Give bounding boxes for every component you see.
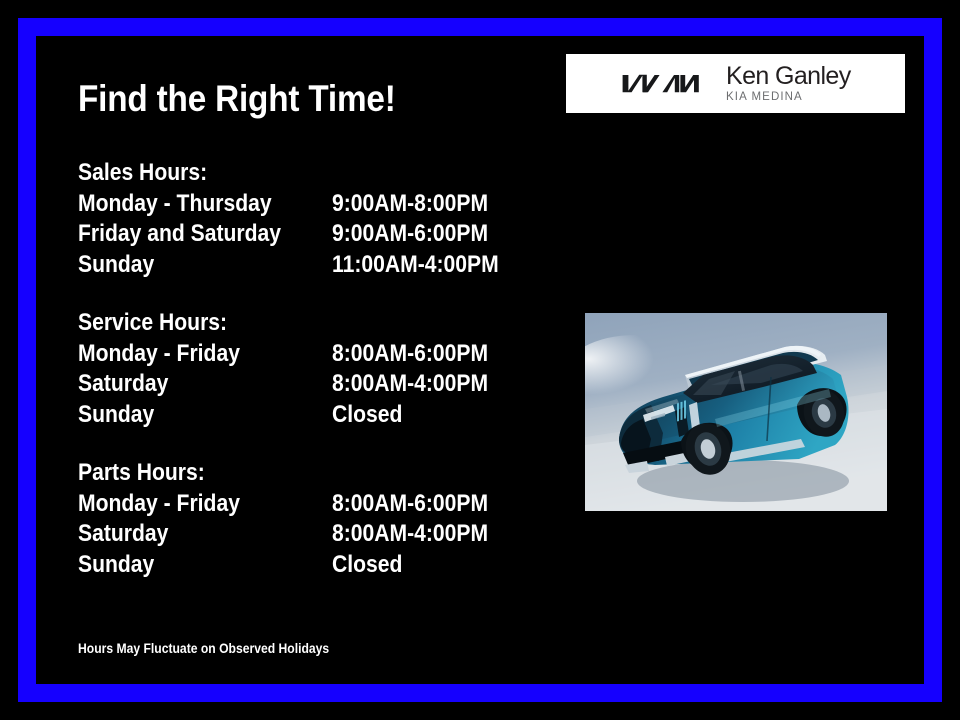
section-heading: Sales Hours: [78, 158, 492, 189]
hours-row: Sunday Closed [78, 550, 548, 581]
dealership-logo-banner: Ken Ganley KIA MEDINA [566, 54, 905, 113]
day-label: Sunday [78, 250, 154, 281]
dealer-subtitle: KIA MEDINA [726, 90, 851, 104]
hours-row: Monday - Thursday 9:00AM-8:00PM [78, 189, 548, 220]
time-value: 9:00AM-6:00PM [332, 219, 488, 250]
time-value: Closed [332, 550, 402, 581]
day-label: Saturday [78, 519, 168, 550]
hours-row: Saturday 8:00AM-4:00PM [78, 519, 548, 550]
page-title: Find the Right Time! [78, 78, 396, 120]
hours-row: Monday - Friday 8:00AM-6:00PM [78, 339, 548, 370]
day-label: Saturday [78, 369, 168, 400]
holiday-note: Hours May Fluctuate on Observed Holidays [78, 641, 329, 656]
hours-row: Friday and Saturday 9:00AM-6:00PM [78, 219, 548, 250]
slide-canvas: Find the Right Time! Sales Hours: Monday… [0, 0, 960, 720]
hours-row: Monday - Friday 8:00AM-6:00PM [78, 489, 548, 520]
kia-logo-icon [584, 69, 708, 99]
dealer-name: Ken Ganley [726, 63, 851, 89]
dealer-name-group: Ken Ganley KIA MEDINA [726, 63, 851, 104]
hours-block-service: Service Hours: Monday - Friday 8:00AM-6:… [78, 308, 548, 430]
time-value: 8:00AM-6:00PM [332, 339, 488, 370]
vehicle-photo [585, 313, 887, 511]
hours-block-parts: Parts Hours: Monday - Friday 8:00AM-6:00… [78, 458, 548, 580]
section-heading: Parts Hours: [78, 458, 492, 489]
time-value: 9:00AM-8:00PM [332, 189, 488, 220]
day-label: Friday and Saturday [78, 219, 281, 250]
hours-row: Sunday Closed [78, 400, 548, 431]
time-value: 8:00AM-4:00PM [332, 369, 488, 400]
hours-list: Sales Hours: Monday - Thursday 9:00AM-8:… [78, 158, 548, 580]
day-label: Sunday [78, 550, 154, 581]
hours-block-sales: Sales Hours: Monday - Thursday 9:00AM-8:… [78, 158, 548, 280]
day-label: Monday - Friday [78, 339, 240, 370]
day-label: Monday - Thursday [78, 189, 272, 220]
day-label: Sunday [78, 400, 154, 431]
time-value: 11:00AM-4:00PM [332, 250, 499, 281]
hours-row: Saturday 8:00AM-4:00PM [78, 369, 548, 400]
hours-row: Sunday 11:00AM-4:00PM [78, 250, 548, 281]
time-value: 8:00AM-6:00PM [332, 489, 488, 520]
time-value: Closed [332, 400, 402, 431]
time-value: 8:00AM-4:00PM [332, 519, 488, 550]
day-label: Monday - Friday [78, 489, 240, 520]
section-heading: Service Hours: [78, 308, 492, 339]
